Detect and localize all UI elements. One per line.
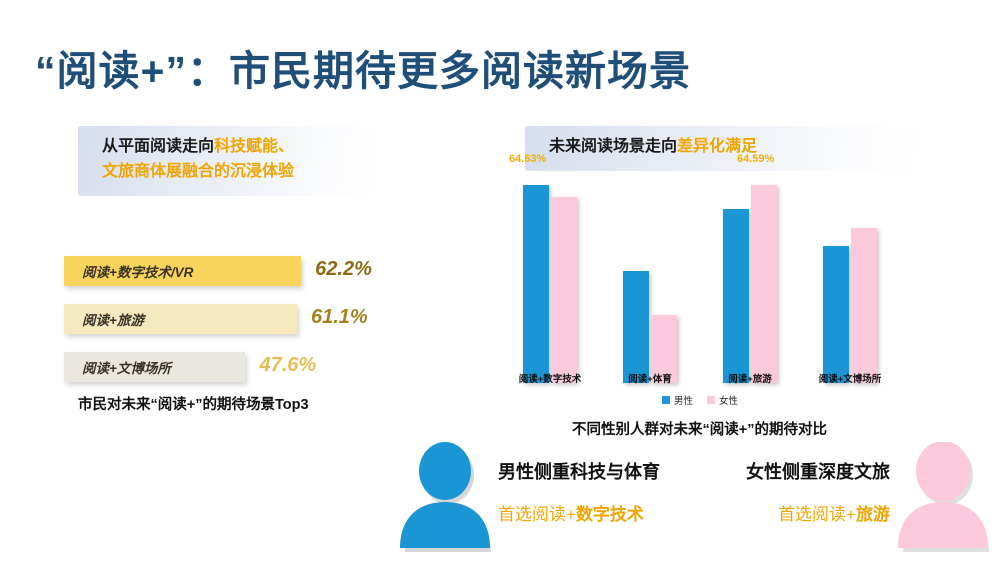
female-headline: 女性侧重深度文旅 xyxy=(746,458,890,484)
legend-label: 女性 xyxy=(719,393,738,407)
left-header-gold-text-2: 文旅商体展融合的沉浸体验 xyxy=(102,160,362,185)
female-sub-strong: 旅游 xyxy=(856,505,890,524)
category-label: 阅读+旅游 xyxy=(728,371,772,385)
column-bar xyxy=(623,271,649,383)
left-panel-header: 从平面阅读走向科技赋能、 文旅商体展融合的沉浸体验 xyxy=(78,126,378,196)
male-subtext: 首选阅读+数字技术 xyxy=(498,500,644,525)
slide-root: “阅读+”：市民期待更多阅读新场景 从平面阅读走向科技赋能、 文旅商体展融合的沉… xyxy=(0,0,999,565)
category-label: 阅读+文博场所 xyxy=(819,371,882,385)
legend-swatch xyxy=(662,396,670,404)
male-sub-strong: 数字技术 xyxy=(576,505,644,524)
column-bar xyxy=(823,246,849,383)
expectation-bar-list: 阅读+数字技术/VR62.2%阅读+旅游61.1%阅读+文博场所47.6% xyxy=(64,256,464,400)
left-panel-header-line1: 从平面阅读走向科技赋能、 xyxy=(102,135,362,160)
right-panel-header: 未来阅读场景走向差异化满足 xyxy=(525,126,920,171)
chart-category-axis: 阅读+数字技术阅读+体育阅读+旅游阅读+文博场所 xyxy=(500,371,900,389)
expectation-bar-value: 61.1% xyxy=(311,306,368,329)
expectation-bar-label: 阅读+数字技术/VR xyxy=(64,261,193,281)
right-chart-caption: 不同性别人群对未来“阅读+”的期待对比 xyxy=(572,418,827,439)
expectation-bar-label: 阅读+文博场所 xyxy=(64,357,171,377)
column-bar xyxy=(751,185,777,383)
female-subtext: 首选阅读+旅游 xyxy=(778,500,890,525)
male-headline: 男性侧重科技与体育 xyxy=(498,458,660,484)
female-sub-prefix: 首选阅读+ xyxy=(778,505,856,524)
legend-item: 女性 xyxy=(707,393,738,407)
gender-comparison-chart: 64.63%64.59% xyxy=(500,168,900,383)
left-header-black-text: 从平面阅读走向 xyxy=(102,138,214,155)
column-bar xyxy=(723,209,749,383)
column-data-label: 64.63% xyxy=(509,153,546,165)
expectation-bar-row: 阅读+文博场所47.6% xyxy=(64,352,464,382)
column-data-label: 64.59% xyxy=(737,153,774,165)
page-title: “阅读+”：市民期待更多阅读新场景 xyxy=(35,37,691,97)
left-chart-caption: 市民对未来“阅读+”的期待场景Top3 xyxy=(78,393,309,414)
legend-swatch xyxy=(707,396,715,404)
female-person-icon xyxy=(898,442,994,552)
category-label: 阅读+数字技术 xyxy=(519,371,582,385)
male-person-icon xyxy=(400,442,496,552)
male-conclusion-block: 男性侧重科技与体育 首选阅读+数字技术 xyxy=(392,440,692,560)
expectation-bar-row: 阅读+数字技术/VR62.2% xyxy=(64,256,464,286)
expectation-bar-value: 62.2% xyxy=(315,258,372,281)
expectation-bar-label: 阅读+旅游 xyxy=(64,309,144,329)
expectation-bar-row: 阅读+旅游61.1% xyxy=(64,304,464,334)
expectation-bar: 阅读+旅游 xyxy=(64,304,297,334)
male-sub-prefix: 首选阅读+ xyxy=(498,505,576,524)
expectation-bar-value: 47.6% xyxy=(259,354,316,377)
female-conclusion-block: 女性侧重深度文旅 首选阅读+旅游 xyxy=(698,440,998,560)
expectation-bar: 阅读+数字技术/VR xyxy=(64,256,301,286)
left-header-gold-text-1: 科技赋能、 xyxy=(214,138,294,155)
chart-legend: 男性女性 xyxy=(500,393,900,407)
category-label: 阅读+体育 xyxy=(628,371,672,385)
legend-label: 男性 xyxy=(674,393,693,407)
right-header-black-text: 未来阅读场景走向 xyxy=(549,138,677,155)
column-bar xyxy=(851,228,877,383)
column-bar xyxy=(523,185,549,384)
column-bar xyxy=(551,197,577,383)
legend-item: 男性 xyxy=(662,393,693,407)
right-panel-header-line: 未来阅读场景走向差异化满足 xyxy=(549,135,904,160)
expectation-bar: 阅读+文博场所 xyxy=(64,352,245,382)
